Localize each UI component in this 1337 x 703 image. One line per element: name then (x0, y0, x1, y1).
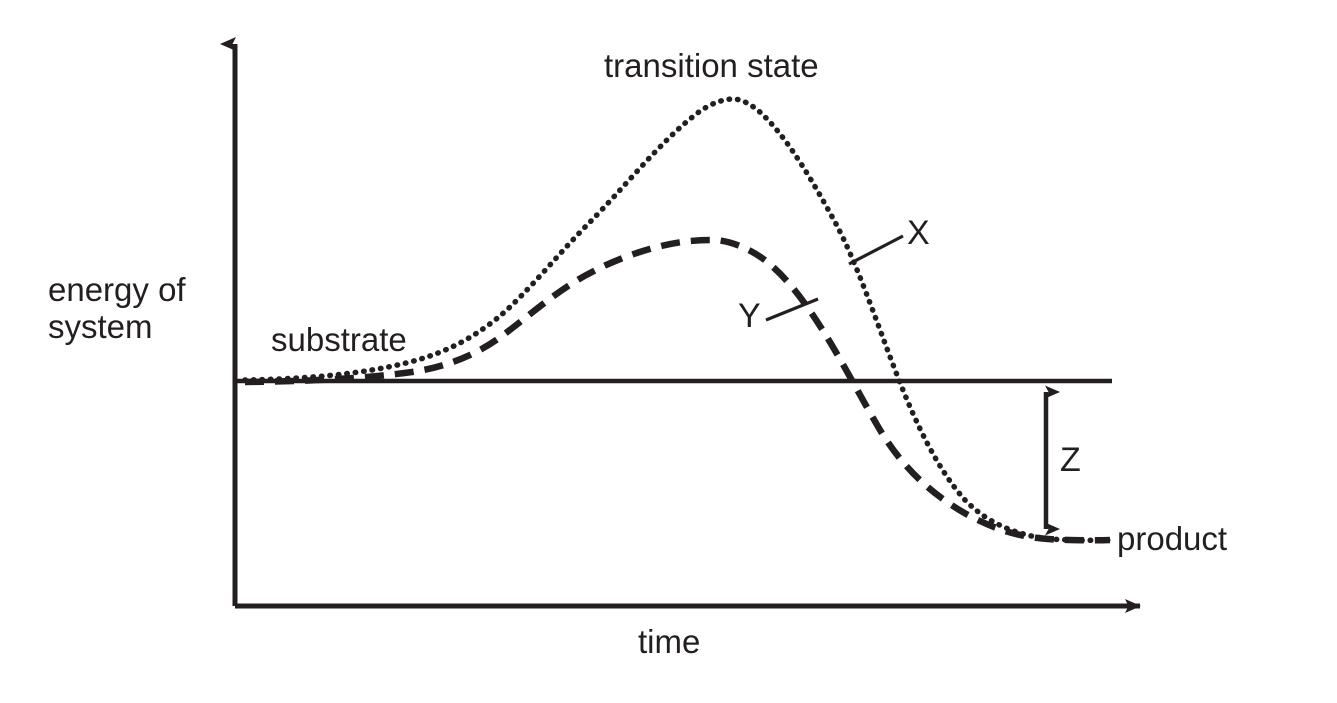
y-axis-label: energy ofsystem (48, 272, 186, 346)
y-axis-label-line2: system (48, 308, 153, 345)
transition-state-label: transition state (604, 48, 819, 85)
curve-x-dotted (245, 99, 1110, 540)
energy-diagram-figure: energy ofsystem substrate transition sta… (0, 0, 1337, 703)
curve-y-dashed (245, 240, 1110, 540)
energy-gap-label: Z (1060, 441, 1081, 479)
substrate-label: substrate (271, 322, 407, 359)
product-label: product (1117, 521, 1227, 558)
curve-x-label: X (907, 214, 930, 252)
y-axis-label-line1: energy of (48, 271, 186, 308)
x-axis-label: time (638, 624, 700, 661)
diagram-canvas (0, 0, 1337, 703)
leader-line-x (849, 236, 903, 264)
curve-y-label: Y (738, 297, 761, 335)
